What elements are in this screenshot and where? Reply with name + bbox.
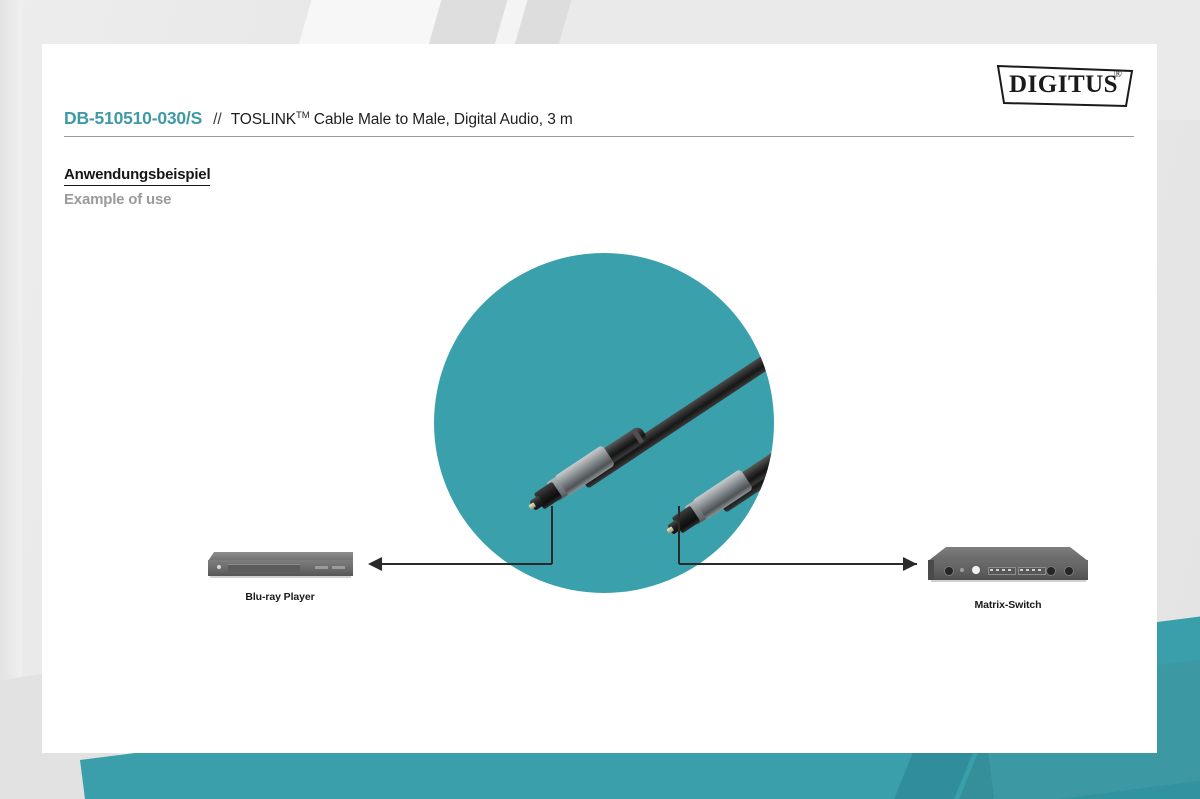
bluray-shadow	[210, 576, 351, 578]
datasheet-page: DIGITUS ® DB-510510-030/S // TOSLINKTM C…	[0, 0, 1200, 799]
matrix-knob-3	[1064, 566, 1074, 576]
bluray-disc-tray	[228, 564, 300, 572]
leader-line-vertical-left	[551, 506, 553, 564]
arrow-to-bluray-player-icon	[368, 557, 382, 571]
matrix-switch-label: Matrix-Switch	[918, 599, 1098, 611]
matrix-port-leds-2	[1020, 569, 1042, 571]
product-image-circle	[434, 253, 774, 593]
matrix-shadow	[931, 580, 1086, 582]
bluray-power-led	[217, 565, 221, 569]
bluray-button-2	[332, 566, 345, 569]
matrix-port-leds-1	[990, 569, 1012, 571]
arrow-to-matrix-switch-icon	[903, 557, 917, 571]
bluray-player-device	[208, 552, 353, 578]
bluray-player-label: Blu-ray Player	[190, 591, 370, 603]
matrix-top-surface	[928, 547, 1088, 561]
leader-line-vertical-right	[678, 506, 680, 564]
leader-line-horizontal-left	[381, 563, 552, 565]
matrix-side-panel	[928, 560, 934, 580]
bluray-button-1	[315, 566, 328, 569]
matrix-switch-device	[928, 547, 1088, 582]
matrix-knob-2	[1046, 566, 1056, 576]
leader-line-horizontal-right	[679, 563, 917, 565]
matrix-knob-1	[944, 566, 954, 576]
matrix-power-led	[972, 566, 980, 574]
matrix-led-1	[960, 568, 964, 572]
content-card: DIGITUS ® DB-510510-030/S // TOSLINKTM C…	[42, 44, 1157, 753]
application-diagram: Blu-ray Player Matrix-Switch	[42, 44, 1157, 753]
